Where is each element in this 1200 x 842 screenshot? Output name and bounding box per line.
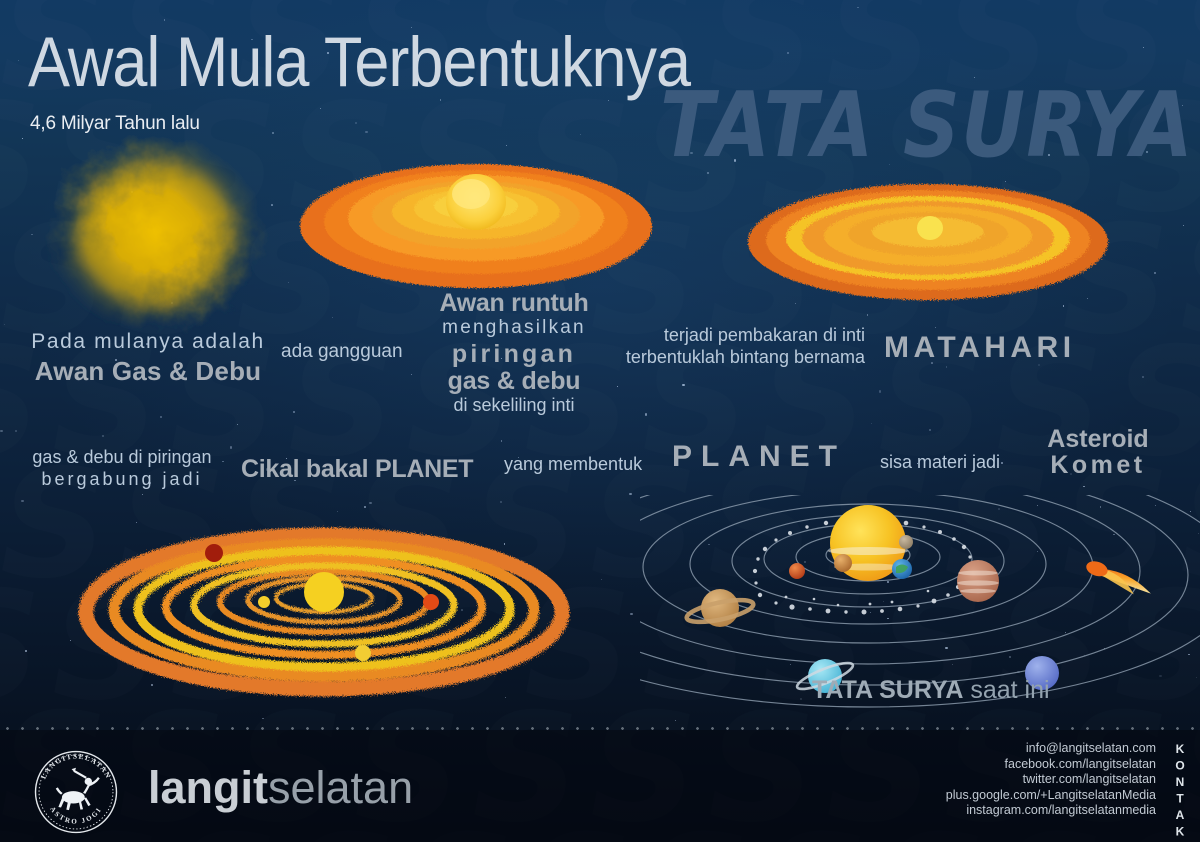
contact-line[interactable]: instagram.com/langitselatanmedia xyxy=(946,803,1156,819)
step-3-bold-1: Awan runtuh xyxy=(418,289,610,318)
brand-wordmark: langitselatan xyxy=(148,762,413,814)
display-title-tata-surya: TATA SURYA xyxy=(660,72,1194,177)
step-7-bold-1: Asteroid xyxy=(1018,425,1178,454)
disk-star xyxy=(304,572,344,612)
step-1-caption: Pada mulanya adalah Awan Gas & Debu xyxy=(28,330,268,387)
planet-mercury xyxy=(899,535,913,549)
step-1-bold-text: Awan Gas & Debu xyxy=(28,356,268,387)
step-1-light-text: Pada mulanya adalah xyxy=(28,330,268,354)
step-5-light-2: bergabung jadi xyxy=(22,469,222,490)
step-7-light-text: sisa materi jadi xyxy=(880,452,1000,473)
step-5-light-1: gas & debu di piringan xyxy=(22,447,222,468)
step-4-caption-text: terjadi pembakaran di inti terbentuklah … xyxy=(600,325,865,368)
svg-text:ASTRO JOGI: ASTRO JOGI xyxy=(48,805,103,826)
step-6-light-text: yang membentuk xyxy=(504,454,642,475)
infographic-poster: SSSSSSSSSSSSSSSSSSSSSSSSSSSSSSSSSSSSSSSS… xyxy=(0,0,1200,842)
step-3-light-1: menghasilkan xyxy=(418,317,610,339)
illustration-protoplanetary-disk-1 xyxy=(296,142,656,302)
step-3-bold-3: gas & debu xyxy=(418,367,610,396)
seal-centaur-figure xyxy=(56,768,100,810)
contact-line[interactable]: plus.google.com/+LangitselatanMedia xyxy=(946,788,1156,804)
contact-line[interactable]: facebook.com/langitselatan xyxy=(946,757,1156,773)
contact-line[interactable]: twitter.com/langitselatan xyxy=(946,772,1156,788)
step-6-planet-label: PLANET xyxy=(672,440,846,474)
langitselatan-seal-logo: LANGITSELATAN ASTRO JOGI xyxy=(32,748,120,836)
page-title: Awal Mula Terbentuknya xyxy=(28,22,690,103)
solar-system-label-bold: TATA SURYA xyxy=(812,676,963,704)
step-3-light-2: di sekeliling inti xyxy=(418,395,610,416)
planet-saturn xyxy=(685,589,755,627)
planet-mars xyxy=(789,563,805,579)
solar-system-label-light: saat ini xyxy=(970,676,1049,704)
planet-venus xyxy=(834,554,852,572)
brand-name-light: selatan xyxy=(268,762,413,813)
contact-line[interactable]: info@langitselatan.com xyxy=(946,741,1156,757)
step-4-matahari-label: MATAHARI xyxy=(884,331,1076,365)
illustration-gas-dust-cloud xyxy=(10,118,300,358)
illustration-protoplanetary-disk-2 xyxy=(742,168,1114,314)
step-3-caption: Awan runtuh menghasilkan piringan gas & … xyxy=(418,289,610,416)
seal-top-text: LANGITSELATAN xyxy=(39,752,114,781)
step-4-light-2: terbentuklah bintang bernama xyxy=(600,347,865,368)
comet xyxy=(1082,559,1155,600)
step-4-light-1: terjadi pembakaran di inti xyxy=(600,325,865,346)
contact-list: info@langitselatan.comfacebook.com/langi… xyxy=(946,741,1156,819)
kontak-label: KONTAK xyxy=(1174,742,1186,841)
footer-divider xyxy=(0,727,1200,730)
step-3-bold-2: piringan xyxy=(418,340,610,369)
step-7-asteroid-komet-label: Asteroid Komet xyxy=(1018,425,1178,480)
step-5-cikal-bakal-label: Cikal bakal PLANET xyxy=(241,455,473,484)
svg-text:LANGITSELATAN: LANGITSELATAN xyxy=(39,752,114,781)
page-subtitle: 4,6 Milyar Tahun lalu xyxy=(30,113,200,135)
illustration-planet-forming-disk xyxy=(76,520,576,700)
seal-bottom-text: ASTRO JOGI xyxy=(48,805,103,826)
step-7-bold-2: Komet xyxy=(1018,451,1178,480)
step-5-caption: gas & debu di piringan bergabung jadi xyxy=(22,447,222,490)
brand-name-bold: langit xyxy=(148,762,268,813)
step-2-caption: ada gangguan xyxy=(281,341,403,363)
solar-system-today-label: TATA SURYA saat ini xyxy=(812,676,1050,705)
